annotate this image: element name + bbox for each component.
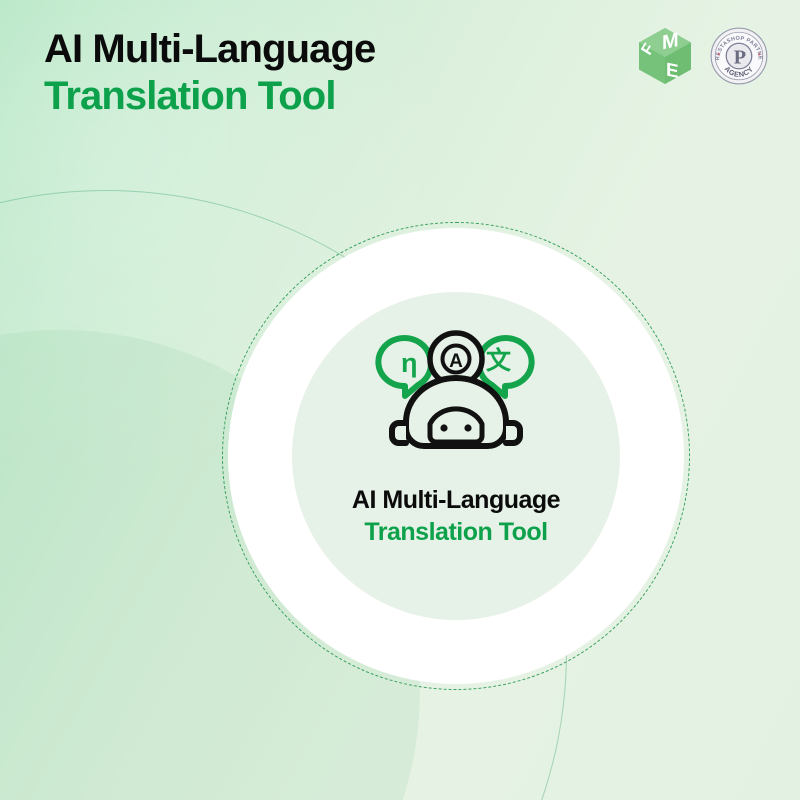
logo-group: F M E PRESTASHOP PARTNER AGENCY P s <box>636 26 768 86</box>
bubble-left-glyph: η <box>401 348 418 378</box>
medallion-content: η 文 A <box>222 222 690 690</box>
robot-eye-right <box>464 424 471 431</box>
banner-header: AI Multi-Language Translation Tool <box>44 26 604 120</box>
medallion-title: AI Multi-Language Translation Tool <box>352 484 560 548</box>
page-title-line-1: AI Multi-Language <box>44 27 375 71</box>
ai-translation-robot-icon: η 文 A <box>372 324 540 470</box>
robot-eye-left <box>440 424 447 431</box>
page-title: AI Multi-Language Translation Tool <box>44 26 604 120</box>
promo-banner: AI Multi-Language Translation Tool F M E <box>0 0 800 800</box>
bubble-center-glyph: A <box>449 351 463 372</box>
fme-letter-m: M <box>662 29 679 54</box>
feature-medallion: η 文 A <box>222 222 690 690</box>
bubble-right-glyph: 文 <box>486 346 512 375</box>
medallion-title-line-1: AI Multi-Language <box>352 486 560 514</box>
fme-logo-icon[interactable]: F M E <box>636 26 694 86</box>
prestashop-partner-badge-icon[interactable]: PRESTASHOP PARTNER AGENCY P s <box>710 27 768 85</box>
page-title-line-2: Translation Tool <box>44 74 336 118</box>
fme-letter-e: E <box>666 60 679 83</box>
medallion-title-line-2: Translation Tool <box>364 518 547 546</box>
